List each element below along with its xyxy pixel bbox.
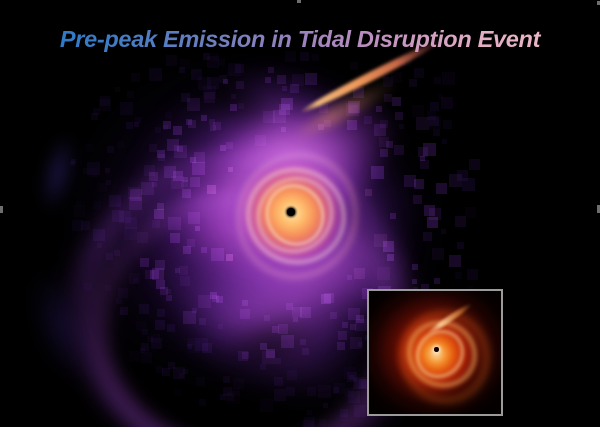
tidal-disruption-simulation [0,0,600,427]
grid-cell [93,229,105,241]
grid-cell [226,142,233,149]
grid-cell [260,364,266,370]
grid-cell [157,150,165,158]
grid-cell [430,102,439,111]
grid-cell [302,348,309,355]
grid-cell [420,156,425,161]
grid-cell [105,168,110,173]
grid-cell [216,296,223,303]
grid-cell [433,129,440,136]
grid-cell [218,59,225,66]
crop-mark-top [297,0,301,3]
grid-cell [196,377,205,386]
grid-cell [434,278,440,284]
grid-cell [266,349,275,358]
grid-cell [115,87,120,92]
grid-cell [409,79,417,87]
grid-cell [162,368,170,376]
grid-cell [436,183,447,194]
grid-cell [242,300,248,306]
grid-cell [255,135,266,146]
grid-cell [187,239,195,247]
grid-cell [365,189,372,196]
grid-cell [228,167,233,172]
grid-cell [201,247,207,253]
grid-cell [395,112,403,120]
grid-cell [228,63,241,76]
grid-cell [173,171,183,181]
grid-cell [441,229,446,234]
grid-cell [264,315,270,321]
grid-cell [145,270,154,279]
grid-cell [112,210,124,222]
inset-close-up [367,289,503,416]
grid-cell [116,298,122,304]
grid-cell [412,264,418,270]
grid-cell [413,195,422,204]
grid-cell [133,278,138,283]
grid-cell [191,69,202,80]
grid-cell [218,324,223,329]
grid-cell [173,126,182,135]
grid-cell [188,212,200,224]
grid-cell [232,388,240,396]
grid-cell [342,322,348,328]
grid-cell [272,326,279,333]
grid-cell [179,373,184,378]
grid-cell [192,162,205,175]
grid-cell [324,293,334,303]
grid-cell [201,115,207,121]
grid-cell [135,117,141,123]
grid-cell [300,339,306,345]
grid-cell [163,121,171,129]
grid-cell [265,77,271,83]
grid-cell [292,74,304,86]
grid-cell [416,117,429,130]
grid-cell [167,139,179,151]
grid-cell [387,254,394,261]
grid-cell [179,266,188,275]
grid-cell [165,112,172,119]
grid-cell [156,366,163,373]
grid-cell [399,124,404,129]
grid-cell [105,285,111,291]
grid-cell [348,391,360,403]
grid-cell [390,213,396,219]
grid-cell [300,307,311,318]
grid-cell [364,116,372,124]
grid-cell [240,309,250,319]
figure-canvas: Pre-peak Emission in Tidal Disruption Ev… [0,0,600,427]
grid-cell [434,77,441,84]
grid-cell [117,141,124,148]
grid-cell [323,403,328,408]
grid-cell [281,335,294,348]
grid-cell [188,341,200,353]
grid-cell [347,120,357,130]
grid-cell [137,232,148,243]
grid-cell [109,195,121,207]
grid-cell [457,170,468,181]
grid-cell [152,182,157,187]
grid-cell [166,55,177,66]
grid-cell [199,318,206,325]
grid-cell [286,387,295,396]
grid-cell [469,159,480,170]
grid-cell [166,295,172,301]
black-hole [287,208,295,216]
grid-cell [231,94,236,99]
grid-cell [412,279,417,284]
grid-cell [355,319,367,331]
grid-cell [238,351,248,361]
grid-cell [376,106,382,112]
grid-cell [230,104,237,111]
grid-cell [89,168,98,177]
grid-cell [287,370,297,380]
grid-cell [144,165,155,176]
grid-cell [223,376,230,383]
grid-cell [350,337,362,349]
grid-cell [353,379,363,389]
grid-cell [149,144,157,152]
grid-cell [129,351,140,362]
grid-cell [97,243,102,248]
grid-cell [354,268,365,279]
grid-cell [195,226,200,231]
grid-cell [334,383,345,394]
grid-cell [141,352,152,363]
grid-cell [139,304,149,314]
grid-cell [455,216,466,227]
grid-cell [213,122,221,130]
inset-black-hole [434,347,439,352]
grid-cell [71,159,76,164]
grid-cell [429,208,441,220]
grid-cell [183,246,191,254]
grid-cell [167,324,175,332]
grid-cell [157,309,165,317]
grid-cell [423,232,432,241]
grid-cell [274,389,286,401]
grid-cell [281,127,286,132]
grid-cell [467,269,478,280]
grid-cell [155,127,161,133]
grid-cell [152,220,160,228]
grid-cell [73,205,85,217]
grid-cell [149,68,162,81]
grid-cell [465,207,476,218]
grid-cell [84,283,92,291]
grid-cell [394,145,404,155]
grid-cell [182,189,191,198]
grid-cell [443,120,452,129]
grid-cell [118,288,128,298]
grid-cell [140,258,149,267]
grid-cell [263,111,275,123]
grid-cell [236,81,244,89]
grid-cell [72,220,83,231]
grid-cell [106,253,113,260]
grid-cell [126,122,133,129]
grid-cell [190,177,200,187]
grid-cell [174,389,181,396]
grid-cell [442,139,447,144]
grid-cell [377,267,390,280]
grid-cell [300,52,309,61]
grid-cell [219,75,227,83]
grid-cell [392,97,401,106]
grid-cell [114,250,120,256]
grid-cell [147,336,153,342]
grid-cell [107,146,114,153]
grid-cell [207,56,219,68]
grid-cell [350,62,358,70]
grid-cell [302,420,314,427]
grid-cell [226,254,233,261]
grid-cell [330,312,337,319]
grid-cell [160,287,168,295]
grid-cell [414,68,424,78]
grid-cell [100,96,110,106]
grid-cell [260,399,273,412]
grid-cell [374,234,387,247]
grid-cell [340,409,348,417]
grid-cell [282,86,287,91]
grid-cell [198,295,211,308]
grid-cell [441,97,453,109]
grid-cell [371,166,384,179]
grid-cell [449,255,461,267]
grid-cell [188,120,196,128]
grid-cell [142,329,148,335]
grid-cell [119,310,124,315]
grid-cell [442,72,455,85]
grid-cell [457,242,464,249]
grid-cell [106,180,111,185]
grid-cell [154,209,164,219]
grid-cell [183,311,196,324]
crop-mark-left [0,206,3,213]
grid-cell [187,98,200,111]
grid-cell [319,419,326,426]
grid-cell [349,375,354,380]
page-title: Pre-peak Emission in Tidal Disruption Ev… [0,26,600,53]
grid-cell [354,405,366,417]
grid-cell [337,342,345,350]
grid-cell [86,144,94,152]
grid-cell [307,387,316,396]
grid-cell [168,217,181,230]
grid-cell [131,73,140,82]
grid-cell [347,275,352,280]
grid-cell [155,320,165,330]
grid-cell [274,377,283,386]
grid-cell [183,177,188,182]
grid-cell [455,272,462,279]
grid-cell [170,233,180,243]
grid-cell [277,75,286,84]
grid-cell [380,149,388,157]
grid-cell [180,59,190,69]
grid-cell [432,248,444,260]
grid-cell [338,331,347,340]
grid-cell [268,67,274,73]
grid-cell [207,185,216,194]
grid-cell [312,54,319,61]
grid-cell [278,324,288,334]
grid-cell [414,179,424,189]
grid-cell [180,276,190,286]
grid-cell [293,317,298,322]
grid-cell [318,385,331,398]
grid-cell [420,160,429,169]
grid-cell [127,91,134,98]
grid-cell [120,102,133,115]
grid-cell [124,227,137,240]
grid-cell [305,73,317,85]
grid-cell [199,399,206,406]
grid-cell [412,105,424,117]
grid-cell [211,248,224,261]
grid-cell [380,120,388,128]
grid-cell [128,187,140,199]
grid-cell [91,113,98,120]
grid-cell [281,98,293,110]
grid-cell [238,103,244,109]
grid-cell [207,77,219,89]
grid-cell [275,358,281,364]
grid-cell [307,410,312,415]
grid-cell [93,201,101,209]
grid-cell [76,201,81,206]
grid-cell [379,137,389,147]
grid-cell [384,94,392,102]
